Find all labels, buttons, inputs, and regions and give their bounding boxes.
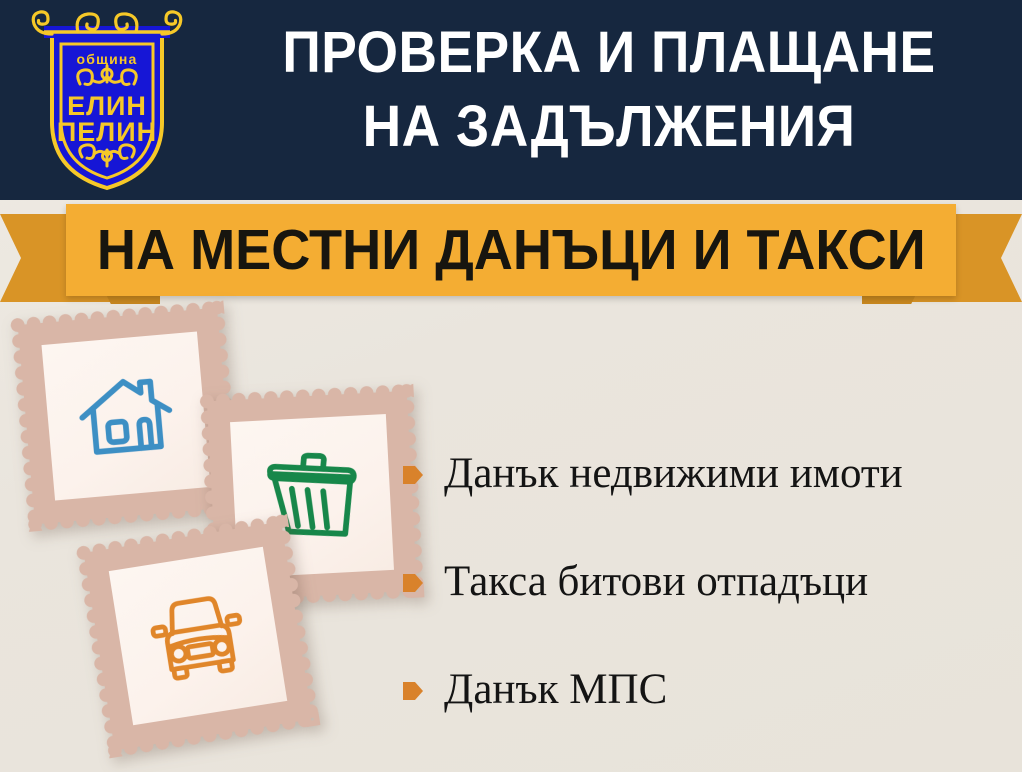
list-item[interactable]: Такса битови отпадъци <box>402 528 1012 636</box>
list-item[interactable]: Данък недвижими имоти <box>402 420 1012 528</box>
subtitle-ribbon: НА МЕСТНИ ДАНЪЦИ И ТАКСИ <box>0 200 1022 310</box>
car-icon <box>139 577 258 696</box>
arrow-right-bullet-icon <box>402 571 424 595</box>
list-item-label: Данък недвижими имоти <box>444 451 903 497</box>
list-item-label: Такса битови отпадъци <box>444 559 868 605</box>
house-icon <box>70 360 183 473</box>
ribbon-subtitle: НА МЕСТНИ ДАНЪЦИ И ТАКСИ <box>97 220 926 280</box>
header-title-block: ПРОВЕРКА И ПЛАЩАНЕ НА ЗАДЪЛЖЕНИЯ <box>196 16 1022 164</box>
list-item[interactable]: Данък МПС <box>402 636 1012 744</box>
stamp-paper <box>41 331 210 500</box>
tax-type-list: Данък недвижими имоти Такса битови отпад… <box>402 420 1012 744</box>
page-title-line-1: ПРОВЕРКА И ПЛАЩАНЕ <box>229 16 989 90</box>
page-title-line-2: НА ЗАДЪЛЖЕНИЯ <box>229 90 989 164</box>
municipality-logo: община ЕЛИН ПЕЛИН <box>18 4 196 194</box>
arrow-right-bullet-icon <box>402 679 424 703</box>
poster-root: община ЕЛИН ПЕЛИН <box>0 0 1022 772</box>
header-banner: община ЕЛИН ПЕЛИН <box>0 0 1022 200</box>
list-item-label: Данък МПС <box>444 667 667 713</box>
arrow-right-bullet-icon <box>402 463 424 487</box>
logo-name-line-2: ПЕЛИН <box>57 117 157 147</box>
stamp-vehicle <box>84 522 313 751</box>
stamp-property <box>18 308 235 525</box>
stamp-paper <box>109 547 287 725</box>
ribbon-band: НА МЕСТНИ ДАНЪЦИ И ТАКСИ <box>66 204 956 296</box>
